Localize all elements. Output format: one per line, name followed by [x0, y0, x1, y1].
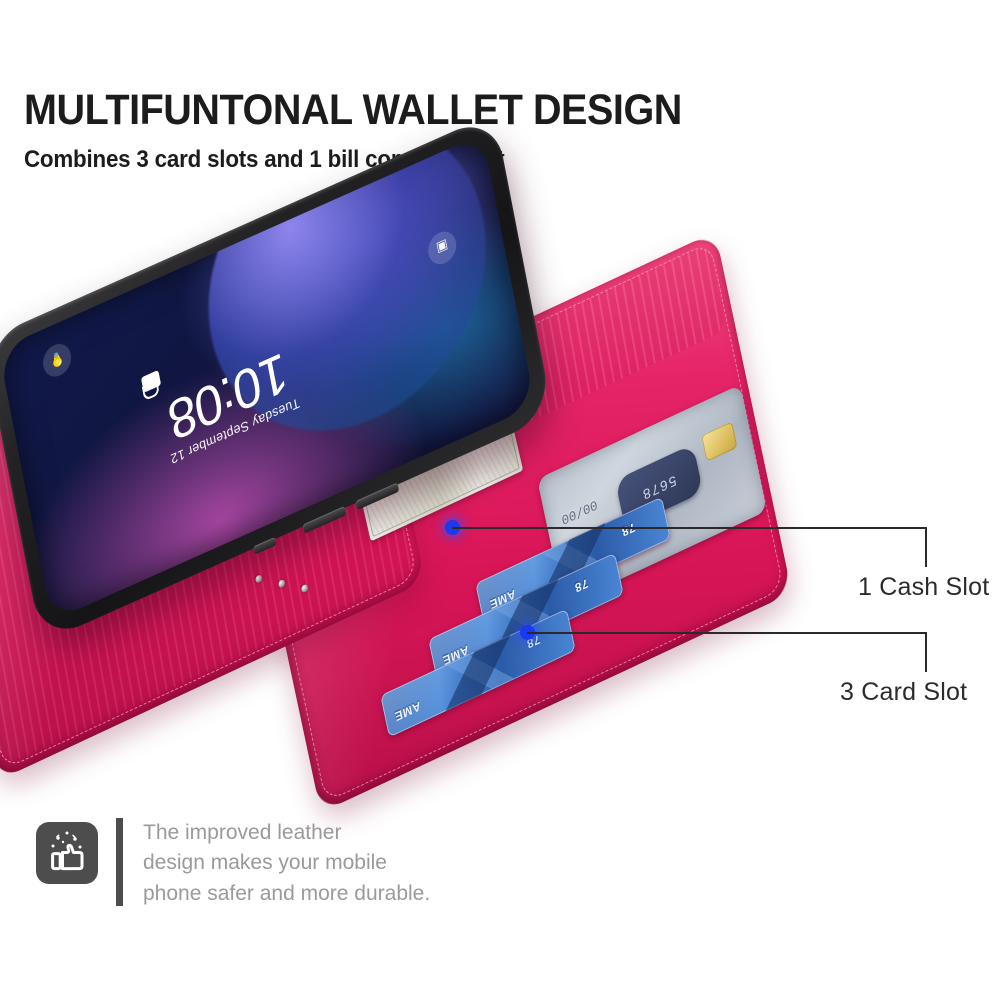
feature-line: The improved leather — [143, 818, 430, 848]
camera-icon: ▣ — [426, 226, 459, 268]
callout-label-cash-slot: 1 Cash Slot — [858, 573, 989, 602]
feature-block: The improved leather design makes your m… — [36, 818, 556, 914]
blue-card-left-text: 78 — [620, 520, 636, 540]
callout-line-cash-slot — [452, 527, 925, 529]
thumbs-up-sparkle-icon — [36, 822, 98, 884]
snap-rivet — [301, 583, 309, 593]
thumbs-up-sparkle-svg — [36, 822, 98, 884]
flashlight-icon: 💡 — [41, 339, 74, 381]
feature-divider — [116, 818, 123, 906]
page-title: MULTIFUNTONAL WALLET DESIGN — [24, 88, 889, 133]
callout-elbow-cash-slot — [925, 527, 927, 567]
id-card-expiry: 00/00 — [560, 496, 599, 528]
blue-card-left-text: 78 — [573, 576, 589, 596]
callout-elbow-card-slot — [925, 632, 927, 672]
lock-screen-info: Tuesday September 12 10:08 — [87, 307, 372, 499]
snap-rivet — [255, 574, 263, 584]
callout-label-card-slot: 3 Card Slot — [840, 678, 967, 707]
emv-chip-icon — [701, 421, 737, 461]
feature-description: The improved leather design makes your m… — [143, 818, 430, 909]
blue-card-right-text: AME — [393, 698, 422, 724]
product-photo: 00/00 1234 5678 5678 78 AME 78 AME 78 AM… — [0, 200, 1000, 800]
padlock-icon — [141, 370, 161, 393]
callout-line-card-slot — [527, 632, 925, 634]
feature-line: phone safer and more durable. — [143, 879, 430, 909]
snap-rivet — [278, 579, 286, 589]
feature-line: design makes your mobile — [143, 848, 430, 878]
